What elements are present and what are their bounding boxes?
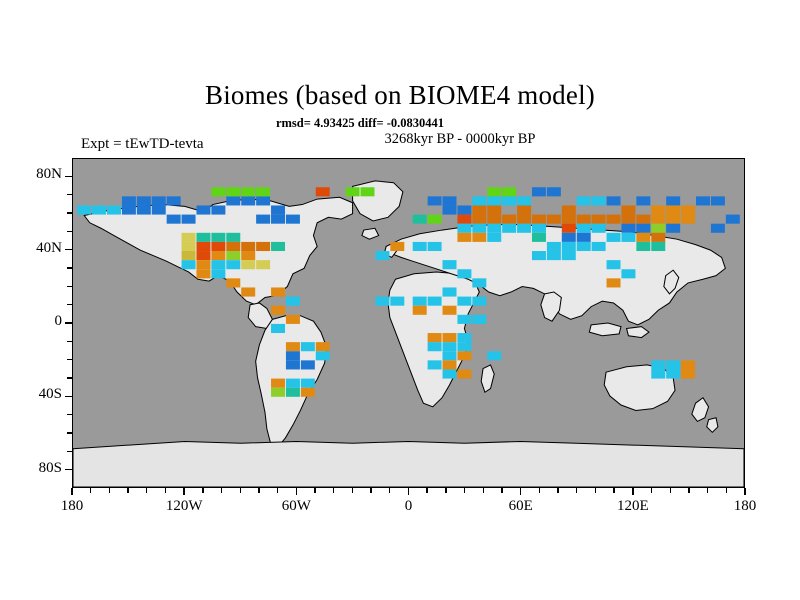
biome-cell	[428, 333, 442, 342]
biome-cell	[443, 351, 457, 360]
y-axis-minor-tick	[67, 286, 72, 287]
biome-cell	[346, 187, 360, 196]
biome-cell	[562, 233, 576, 242]
biome-cell	[122, 205, 136, 214]
biome-cell	[286, 360, 300, 369]
biome-cell	[472, 205, 486, 214]
biome-cell	[301, 379, 315, 388]
world-biome-map	[72, 158, 745, 488]
figure-canvas: Biomes (based on BIOME4 model) rmsd= 4.9…	[0, 0, 800, 600]
biome-cell	[651, 205, 665, 214]
biome-cell	[316, 351, 330, 360]
biome-cell	[413, 297, 427, 306]
biome-cell	[487, 351, 501, 360]
biome-cell	[592, 224, 606, 233]
biome-cell	[636, 215, 650, 224]
stats-annotation: rmsd= 4.93425 diff= -0.0830441	[0, 116, 720, 131]
biome-cell	[562, 224, 576, 233]
biome-cell	[607, 233, 621, 242]
x-axis-tick-label: 60E	[481, 498, 561, 515]
biome-cell	[681, 369, 695, 378]
biome-cell	[651, 224, 665, 233]
biome-cell	[77, 205, 91, 214]
x-axis-minor-tick	[240, 488, 241, 493]
biome-cell	[413, 215, 427, 224]
x-axis-minor-tick	[333, 488, 334, 493]
biome-cell	[196, 260, 210, 269]
x-axis-minor-tick	[370, 488, 371, 493]
biome-cell	[256, 187, 270, 196]
biome-cell	[651, 242, 665, 251]
y-axis-minor-tick	[67, 231, 72, 232]
biome-cell	[271, 287, 285, 296]
x-axis-minor-tick	[352, 488, 353, 493]
x-axis-minor-tick	[202, 488, 203, 493]
biome-cell	[636, 233, 650, 242]
biome-cell	[562, 205, 576, 214]
biome-cell	[286, 379, 300, 388]
biome-cell	[457, 351, 471, 360]
biome-cell	[375, 251, 389, 260]
y-axis-tick	[65, 249, 72, 250]
biome-cell	[487, 196, 501, 205]
biome-cell	[256, 242, 270, 251]
biome-cell	[226, 242, 240, 251]
biome-cell	[286, 388, 300, 397]
x-axis-tick-label: 180	[32, 498, 112, 515]
biome-cell	[562, 242, 576, 251]
biome-cell	[271, 205, 285, 214]
biome-cell	[547, 215, 561, 224]
biome-cell	[286, 297, 300, 306]
y-axis-minor-tick	[67, 451, 72, 452]
biome-cell	[443, 360, 457, 369]
biome-cell	[457, 333, 471, 342]
biome-cell	[211, 233, 225, 242]
x-axis-minor-tick	[221, 488, 222, 493]
x-axis-tick-label: 120E	[593, 498, 673, 515]
biome-cell	[577, 196, 591, 205]
biome-cell	[547, 242, 561, 251]
biome-cell	[226, 233, 240, 242]
biome-cell	[577, 215, 591, 224]
biome-cell	[241, 287, 255, 296]
y-axis-minor-tick	[67, 212, 72, 213]
biome-cell	[562, 251, 576, 260]
page-title: Biomes (based on BIOME4 model)	[0, 80, 800, 111]
biome-cell	[666, 360, 680, 369]
biome-cell	[443, 287, 457, 296]
biome-cell	[472, 224, 486, 233]
biome-cell	[472, 278, 486, 287]
biome-cell	[167, 196, 181, 205]
biome-cell	[286, 315, 300, 324]
biome-cell	[390, 297, 404, 306]
x-axis-tick	[632, 488, 633, 495]
x-axis-minor-tick	[501, 488, 502, 493]
biome-cell	[607, 196, 621, 205]
biome-cell	[271, 388, 285, 397]
biome-cell	[182, 233, 196, 242]
x-axis-minor-tick	[464, 488, 465, 493]
biome-cell	[532, 251, 546, 260]
biome-cell	[666, 215, 680, 224]
biome-cell	[286, 215, 300, 224]
biome-cell	[592, 196, 606, 205]
biome-cell	[457, 205, 471, 214]
biome-cell	[443, 205, 457, 214]
biome-cell	[472, 233, 486, 242]
biome-cell	[182, 260, 196, 269]
experiment-label: Expt = tEwTD-tevta	[81, 136, 204, 153]
y-axis-minor-tick	[67, 432, 72, 433]
x-axis-minor-tick	[595, 488, 596, 493]
biome-cell	[621, 233, 635, 242]
biome-cell	[271, 242, 285, 251]
biome-cell	[413, 306, 427, 315]
biome-cell	[226, 278, 240, 287]
x-axis-minor-tick	[258, 488, 259, 493]
x-axis-tick	[520, 488, 521, 495]
x-axis-minor-tick	[389, 488, 390, 493]
y-axis-tick	[65, 396, 72, 397]
period-annotation: 3268kyr BP - 0000kyr BP	[240, 131, 680, 148]
biome-cell	[428, 342, 442, 351]
biome-cell	[621, 215, 635, 224]
biome-cell	[457, 297, 471, 306]
biome-cell	[271, 379, 285, 388]
x-axis-minor-tick	[90, 488, 91, 493]
biome-cell	[457, 269, 471, 278]
biome-cell	[711, 196, 725, 205]
biome-cell	[152, 205, 166, 214]
biome-cell	[651, 233, 665, 242]
biome-cell	[428, 360, 442, 369]
x-axis-tick-label: 0	[369, 498, 449, 515]
x-axis-minor-tick	[613, 488, 614, 493]
biome-cell	[487, 224, 501, 233]
biome-cell	[666, 224, 680, 233]
biome-cell	[413, 242, 427, 251]
biome-cell	[428, 196, 442, 205]
y-axis-tick-label: 80S	[14, 460, 62, 477]
biome-cell	[211, 251, 225, 260]
biome-cell	[711, 224, 725, 233]
x-axis-minor-tick	[109, 488, 110, 493]
biome-cell	[241, 196, 255, 205]
biome-cell	[636, 242, 650, 251]
biome-cell	[577, 242, 591, 251]
biome-cell	[390, 242, 404, 251]
x-axis-minor-tick	[670, 488, 671, 493]
biome-cell	[196, 269, 210, 278]
biome-cell	[457, 224, 471, 233]
x-axis-minor-tick	[165, 488, 166, 493]
biome-cell	[196, 205, 210, 214]
biome-cell	[316, 342, 330, 351]
biome-cell	[472, 297, 486, 306]
biome-cell	[241, 242, 255, 251]
biome-cell	[457, 215, 471, 224]
y-axis-minor-tick	[67, 414, 72, 415]
y-axis-tick-label: 0	[14, 313, 62, 330]
x-axis-tick	[183, 488, 184, 495]
biome-cell	[428, 215, 442, 224]
biome-cell	[196, 242, 210, 251]
biome-cell	[443, 369, 457, 378]
biome-cell	[182, 215, 196, 224]
biome-cell	[167, 215, 181, 224]
biome-cell	[487, 205, 501, 214]
biome-cell	[666, 205, 680, 214]
biome-cell	[241, 187, 255, 196]
biome-cell	[532, 215, 546, 224]
biome-cell	[443, 342, 457, 351]
biome-cell	[532, 233, 546, 242]
biome-cell	[666, 369, 680, 378]
biome-cell	[256, 215, 270, 224]
y-axis-minor-tick	[67, 359, 72, 360]
biome-cell	[211, 187, 225, 196]
biome-cell	[607, 215, 621, 224]
x-axis-minor-tick	[426, 488, 427, 493]
biome-cell	[152, 196, 166, 205]
biome-cell	[92, 205, 106, 214]
biome-cell	[517, 196, 531, 205]
x-axis-minor-tick	[146, 488, 147, 493]
biome-cell	[226, 251, 240, 260]
biome-cell	[457, 233, 471, 242]
biome-cell	[226, 187, 240, 196]
biome-cell	[271, 306, 285, 315]
y-axis-tick-label: 80N	[14, 166, 62, 183]
y-axis-tick-label: 40S	[14, 386, 62, 403]
biome-cell	[443, 196, 457, 205]
biome-cell	[122, 196, 136, 205]
y-axis-minor-tick	[67, 377, 72, 378]
biome-cell	[472, 315, 486, 324]
biome-cell	[681, 215, 695, 224]
x-axis-tick-label: 60W	[256, 498, 336, 515]
x-axis-tick	[408, 488, 409, 495]
biome-cell	[636, 224, 650, 233]
biome-cell	[547, 187, 561, 196]
biome-cell	[517, 224, 531, 233]
biome-cell	[577, 224, 591, 233]
biome-cell	[651, 369, 665, 378]
biome-cell	[256, 260, 270, 269]
biome-cell	[286, 342, 300, 351]
x-axis-minor-tick	[707, 488, 708, 493]
biome-cell	[502, 196, 516, 205]
biome-cell	[211, 269, 225, 278]
biome-cell	[517, 215, 531, 224]
biome-cell	[196, 251, 210, 260]
biome-cell	[241, 260, 255, 269]
biome-cell	[301, 342, 315, 351]
biome-cell	[211, 242, 225, 251]
biome-cell	[457, 369, 471, 378]
x-axis-tick	[71, 488, 72, 495]
y-axis-tick	[65, 469, 72, 470]
biome-cell	[472, 196, 486, 205]
biome-cell	[107, 205, 121, 214]
biome-cell	[137, 205, 151, 214]
biome-cell	[182, 242, 196, 251]
biome-cell	[301, 388, 315, 397]
x-axis-minor-tick	[726, 488, 727, 493]
biome-cell	[681, 360, 695, 369]
biome-cell	[271, 215, 285, 224]
biome-cell	[502, 215, 516, 224]
biome-cell	[487, 187, 501, 196]
x-axis-minor-tick	[539, 488, 540, 493]
biome-cell	[696, 196, 710, 205]
x-axis-minor-tick	[576, 488, 577, 493]
x-axis-minor-tick	[277, 488, 278, 493]
biome-cell	[681, 205, 695, 214]
biome-cell	[316, 187, 330, 196]
biome-cell	[517, 205, 531, 214]
biome-cell	[457, 342, 471, 351]
biome-cell	[577, 233, 591, 242]
x-axis-tick-label: 120W	[144, 498, 224, 515]
y-axis-tick	[65, 322, 72, 323]
biome-cell	[726, 215, 740, 224]
biome-cell	[607, 278, 621, 287]
biome-cell	[271, 324, 285, 333]
x-axis-minor-tick	[445, 488, 446, 493]
x-axis-minor-tick	[483, 488, 484, 493]
biome-cell	[651, 215, 665, 224]
y-axis-minor-tick	[67, 304, 72, 305]
biome-cell	[301, 360, 315, 369]
biome-cell	[666, 196, 680, 205]
biome-cell	[375, 297, 389, 306]
biome-cell	[651, 360, 665, 369]
biome-cell	[443, 333, 457, 342]
x-axis-minor-tick	[688, 488, 689, 493]
biome-cell	[443, 260, 457, 269]
biome-cell	[256, 196, 270, 205]
y-axis-minor-tick	[67, 194, 72, 195]
biome-cell	[196, 233, 210, 242]
biome-cell	[182, 251, 196, 260]
biome-cell	[211, 260, 225, 269]
biome-cell	[621, 205, 635, 214]
biome-cell	[137, 196, 151, 205]
biome-cell	[532, 224, 546, 233]
x-axis-tick-label: 180	[705, 498, 785, 515]
biome-cell	[532, 187, 546, 196]
y-axis-tick-label: 40N	[14, 240, 62, 257]
biome-cell	[502, 224, 516, 233]
biome-cell	[428, 242, 442, 251]
biome-cell	[428, 297, 442, 306]
x-axis-minor-tick	[127, 488, 128, 493]
biome-cell	[226, 260, 240, 269]
biome-cell	[487, 233, 501, 242]
biome-cell	[211, 205, 225, 214]
biome-cell	[286, 351, 300, 360]
y-axis-tick	[65, 176, 72, 177]
biome-cell	[607, 260, 621, 269]
y-axis-minor-tick	[67, 267, 72, 268]
biome-cell	[592, 242, 606, 251]
biome-cell	[592, 215, 606, 224]
biome-cell	[621, 224, 635, 233]
biome-cell	[457, 315, 471, 324]
x-axis-minor-tick	[314, 488, 315, 493]
biome-cell	[226, 196, 240, 205]
x-axis-tick	[296, 488, 297, 495]
biome-cell	[562, 215, 576, 224]
biome-difference-cells	[73, 159, 744, 487]
x-axis-minor-tick	[651, 488, 652, 493]
biome-cell	[502, 187, 516, 196]
x-axis-minor-tick	[557, 488, 558, 493]
x-axis-tick	[744, 488, 745, 495]
biome-cell	[487, 215, 501, 224]
biome-cell	[547, 251, 561, 260]
biome-cell	[621, 269, 635, 278]
y-axis-minor-tick	[67, 341, 72, 342]
biome-cell	[361, 187, 375, 196]
biome-cell	[241, 251, 255, 260]
biome-cell	[636, 196, 650, 205]
biome-cell	[443, 306, 457, 315]
biome-cell	[472, 215, 486, 224]
